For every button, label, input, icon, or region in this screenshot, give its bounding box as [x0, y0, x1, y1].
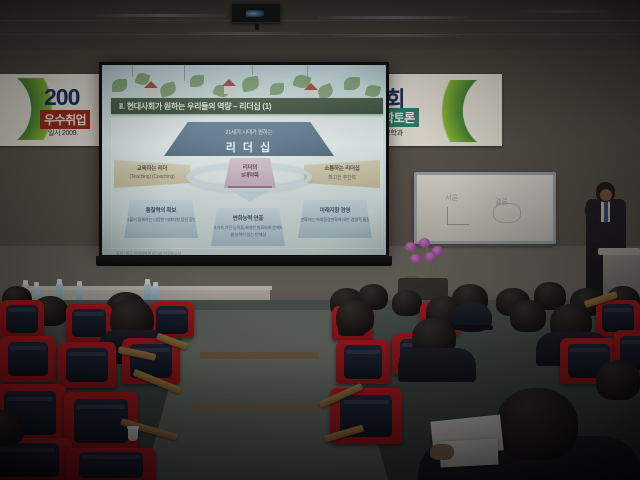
bottom-box-1-title: 통찰력의 확보 — [124, 206, 198, 214]
projection-screen: II. 현대사회가 원하는 우리들의 역량 – 리더십 (1) 21세기 시대가… — [99, 62, 389, 258]
podium-top — [598, 248, 640, 255]
aisle-step — [200, 352, 318, 359]
foreground-attendee-head — [496, 388, 578, 460]
whiteboard-mark: 서론 — [445, 193, 458, 203]
ceiling — [0, 0, 640, 52]
side-right-title: 소통하는 리더십 — [304, 164, 380, 172]
core-line1: 리더의 — [224, 164, 276, 172]
banner-highlight: 우수취업 — [40, 110, 90, 129]
side-right-sub: 확고한 추진력 — [304, 174, 380, 181]
fluorescent-light — [318, 16, 468, 19]
bottom-box-2-sub: 자기가 가진 능력을 최대한 발휘하여 문제해결 능력이 있는 인재상 — [211, 225, 285, 238]
slide-footer: 출처 : 한국 인재개발원 리더십 연구보고서 — [116, 251, 181, 255]
core-line2: 5대덕목 — [224, 172, 276, 180]
banner-year: 200 — [44, 84, 79, 111]
roof-title: 리 더 십 — [164, 139, 334, 155]
diagram-core: 리더의 5대덕목 — [224, 158, 276, 188]
whiteboard-scribble — [447, 207, 469, 225]
bottom-box-1-sub: 더불어 함께하는 다양한 미래지향 정신 함양 — [124, 217, 198, 224]
core-underline — [228, 186, 272, 188]
down-arrow-icon — [230, 190, 270, 202]
banner-swoosh-icon — [432, 80, 502, 142]
auditorium-seat[interactable] — [0, 300, 44, 338]
whiteboard: 서론 결론 — [414, 172, 556, 244]
diagram-bottom-box-1: 통찰력의 확보 더불어 함께하는 다양한 미래지향 정신 함양 — [124, 200, 198, 238]
auditorium-seat[interactable] — [0, 336, 56, 382]
whiteboard-scribble — [493, 203, 521, 223]
presentation-slide: II. 현대사회가 원하는 우리들의 역량 – 리더십 (1) 21세기 시대가… — [102, 65, 386, 255]
seated-attendee — [596, 360, 640, 400]
ceiling-projector-icon — [231, 3, 281, 23]
roof-subtitle: 21세기 시대가 원하는 — [164, 128, 334, 136]
diagram-bottom-box-3: 미래지향 경영 변화하는 미래환경변화에 대한 경영적 통찰 — [298, 200, 372, 238]
bottom-box-2-title: 변화능력 연출 — [211, 214, 285, 222]
bottom-box-3-sub: 변화하는 미래환경변화에 대한 경영적 통찰 — [298, 217, 372, 224]
auditorium-seat[interactable] — [66, 448, 156, 480]
paper-cup[interactable] — [128, 428, 138, 441]
diagram-roof: 21세기 시대가 원하는 리 더 십 — [164, 122, 334, 156]
lecture-hall-scene: 200 우수취업 일시 2009. 수회 강전학토론 학교 환경공학과 서론 결… — [0, 0, 640, 480]
aisle-step — [190, 404, 330, 411]
seated-attendee — [392, 290, 422, 316]
screen-bottom-bar — [96, 256, 392, 266]
house-icon — [306, 89, 317, 98]
seated-attendee — [510, 300, 546, 332]
side-left-title: 교육하는 리더 — [114, 164, 190, 172]
attendee-cap — [452, 302, 492, 332]
bottom-box-3-title: 미래지향 경영 — [298, 206, 372, 214]
banner-subtitle: 일시 2009. — [48, 128, 78, 138]
diagram-side-right: 소통하는 리더십 확고한 추진력 — [304, 160, 380, 188]
fluorescent-light — [520, 10, 610, 13]
attendee-shoulders — [398, 348, 476, 382]
side-left-sub: (Teaching) (Coaching) — [114, 174, 190, 180]
diagram-bottom-box-2: 변화능력 연출 자기가 가진 능력을 최대한 발휘하여 문제해결 능력이 있는 … — [211, 208, 285, 246]
slide-title: II. 현대사회가 원하는 우리들의 역량 – 리더십 (1) — [111, 98, 383, 114]
house-icon — [146, 87, 157, 96]
diagram-side-left: 교육하는 리더 (Teaching) (Coaching) — [114, 160, 190, 188]
slide-diagram: 21세기 시대가 원하는 리 더 십 교육하는 리더 (Teaching) (C… — [111, 117, 383, 249]
fluorescent-light — [330, 34, 460, 37]
auditorium-seat[interactable] — [58, 342, 116, 388]
attendee-hand — [430, 444, 454, 460]
seated-attendee — [336, 300, 374, 334]
fluorescent-light — [96, 14, 226, 17]
house-icon — [224, 85, 235, 94]
auditorium-seat[interactable] — [336, 340, 390, 384]
fluorescent-light — [186, 32, 302, 35]
